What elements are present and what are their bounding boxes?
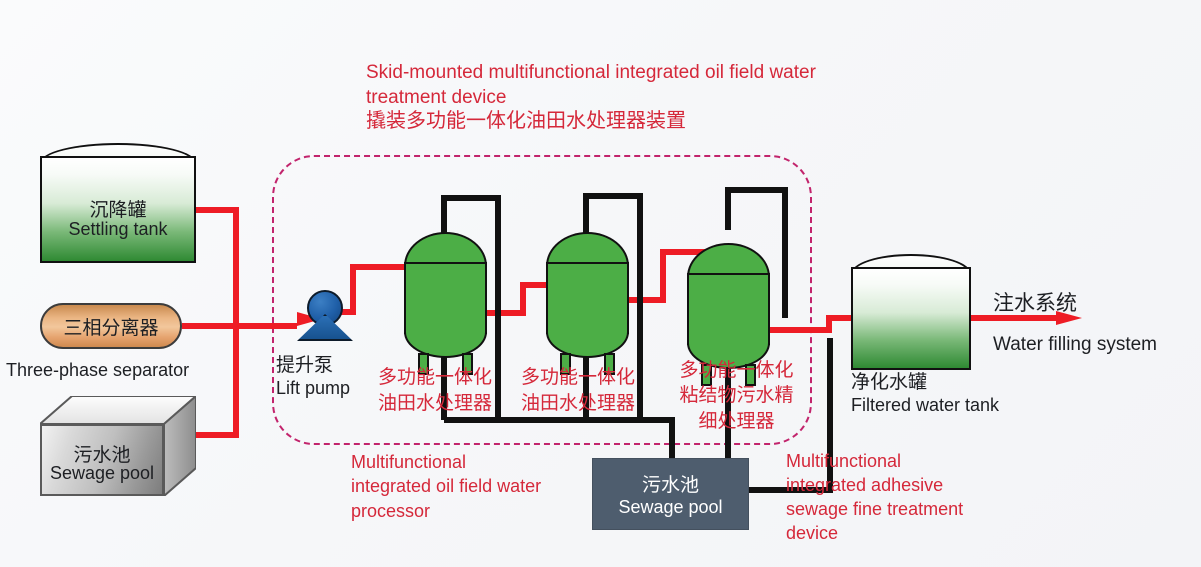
vessel-1-bottom — [404, 332, 487, 358]
process-flow-diagram: 沉降罐 Settling tank 三相分离器 Three-phase sepa… — [0, 0, 1201, 567]
sewage-pool-drain-label-cn: 污水池 — [642, 470, 699, 497]
vessel-2-label-cn: 多功能一体化 油田水处理器 — [521, 365, 635, 417]
vessel-2-body — [546, 262, 629, 334]
sewage-pool-drain: 污水池 Sewage pool — [592, 458, 749, 530]
settling-tank-label-cn: 沉降罐 — [40, 195, 196, 222]
filtered-water-tank-label-cn: 净化水罐 — [851, 372, 927, 394]
sewage-pool-inlet: 污水池 Sewage pool — [40, 396, 196, 496]
vessel-3 — [687, 243, 770, 373]
sewage-pool-inlet-label-en: Sewage pool — [40, 463, 164, 484]
settling-tank-label-en: Settling tank — [40, 219, 196, 240]
vessel-1-dome — [404, 232, 487, 266]
filtered-water-tank-label-en: Filtered water tank — [851, 395, 999, 416]
lift-pump-base — [297, 314, 353, 341]
outlet-label-cn: 注水系统 — [993, 292, 1077, 316]
diagram-title-cn: 撬装多功能一体化油田水处理器装置 — [366, 110, 686, 133]
vessel-2 — [546, 232, 629, 362]
diagram-title-en: Skid-mounted multifunctional integrated … — [366, 61, 816, 110]
filtered-water-tank-body — [851, 267, 971, 370]
vessel-3-body — [687, 273, 770, 345]
vessel-1-body — [404, 262, 487, 334]
sewage-pool-drain-label-en: Sewage pool — [618, 497, 722, 518]
adhesive-caption-en: Multifunctional integrated adhesive sewa… — [786, 450, 963, 546]
vessel-2-bottom — [546, 332, 629, 358]
vessel-3-label-cn: 多功能一体化 粘结物污水精 细处理器 — [674, 358, 799, 434]
three-phase-separator: 三相分离器 — [40, 303, 182, 349]
separator-label-en: Three-phase separator — [6, 360, 189, 381]
lift-pump-label-en: Lift pump — [276, 378, 350, 399]
vessel-3-dome — [687, 243, 770, 277]
processor-caption-en: Multifunctional integrated oil field wat… — [351, 450, 541, 523]
filtered-water-tank — [851, 254, 971, 370]
lift-pump — [297, 290, 353, 341]
vessel-2-dome — [546, 232, 629, 266]
vessel-1-label-cn: 多功能一体化 油田水处理器 — [378, 365, 492, 417]
lift-pump-label-cn: 提升泵 — [276, 355, 333, 377]
vessel-1 — [404, 232, 487, 362]
outlet-label-en: Water filling system — [993, 334, 1157, 356]
settling-tank: 沉降罐 Settling tank — [40, 143, 196, 263]
separator-label-cn: 三相分离器 — [63, 313, 158, 340]
